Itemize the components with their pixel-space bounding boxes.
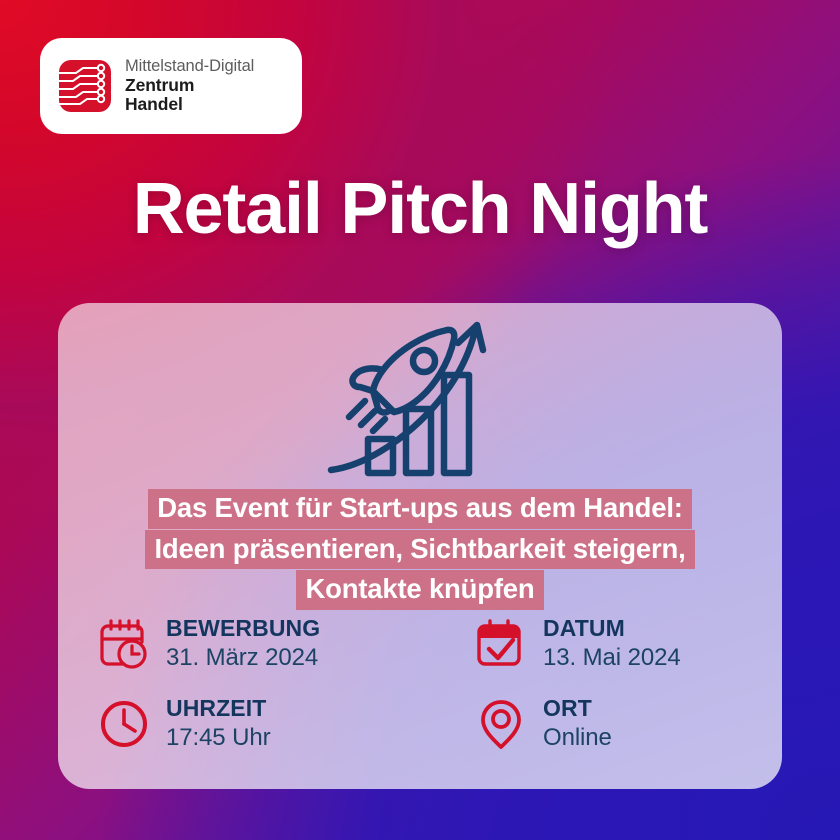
event-details-card: Das Event für Start-ups aus dem Handel: … bbox=[58, 303, 782, 789]
calendar-check-icon bbox=[475, 618, 527, 670]
location-pin-icon bbox=[475, 698, 527, 750]
logo-wordmark: Mittelstand-Digital Zentrum Handel bbox=[125, 57, 254, 115]
subtitle-line-3: Kontakte knüpfen bbox=[296, 570, 543, 610]
info-text-ort: ORT Online bbox=[543, 695, 612, 753]
info-item-datum: DATUM 13. Mai 2024 bbox=[423, 615, 748, 673]
info-text-datum: DATUM 13. Mai 2024 bbox=[543, 615, 681, 673]
info-item-bewerbung: BEWERBUNG 31. März 2024 bbox=[98, 615, 423, 673]
event-subtitle: Das Event für Start-ups aus dem Handel: … bbox=[58, 489, 782, 611]
info-label-datum: DATUM bbox=[543, 615, 681, 642]
info-label-uhrzeit: UHRZEIT bbox=[166, 695, 271, 722]
logo-line-2: Zentrum bbox=[125, 76, 254, 96]
info-value-uhrzeit: 17:45 Uhr bbox=[166, 723, 271, 753]
clock-icon bbox=[98, 698, 150, 750]
info-text-bewerbung: BEWERBUNG 31. März 2024 bbox=[166, 615, 320, 673]
info-value-ort: Online bbox=[543, 723, 612, 753]
mittelstand-digital-circuit-mark-icon bbox=[58, 59, 112, 113]
logo-badge: Mittelstand-Digital Zentrum Handel bbox=[40, 38, 302, 134]
subtitle-line-1: Das Event für Start-ups aus dem Handel: bbox=[148, 489, 692, 529]
info-label-ort: ORT bbox=[543, 695, 612, 722]
info-value-bewerbung: 31. März 2024 bbox=[166, 643, 320, 673]
info-value-datum: 13. Mai 2024 bbox=[543, 643, 681, 673]
rocket-growth-chart-icon bbox=[327, 313, 513, 489]
calendar-clock-icon bbox=[98, 618, 150, 670]
logo-line-1: Mittelstand-Digital bbox=[125, 57, 254, 76]
subtitle-line-2: Ideen präsentieren, Sichtbarkeit steiger… bbox=[145, 530, 694, 570]
event-info-grid: BEWERBUNG 31. März 2024 DATUM 1 bbox=[98, 615, 748, 753]
event-poster: Mittelstand-Digital Zentrum Handel Retai… bbox=[0, 0, 840, 840]
page-title: Retail Pitch Night bbox=[0, 168, 840, 250]
info-text-uhrzeit: UHRZEIT 17:45 Uhr bbox=[166, 695, 271, 753]
info-label-bewerbung: BEWERBUNG bbox=[166, 615, 320, 642]
info-item-ort: ORT Online bbox=[423, 695, 748, 753]
logo-line-3: Handel bbox=[125, 95, 254, 115]
info-item-uhrzeit: UHRZEIT 17:45 Uhr bbox=[98, 695, 423, 753]
